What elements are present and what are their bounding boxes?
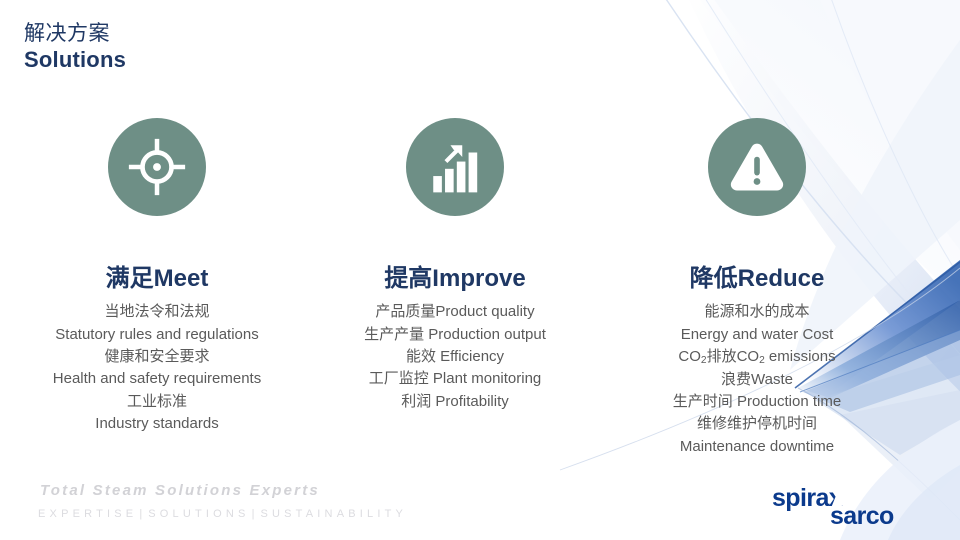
slide-title-block: 解决方案 Solutions <box>24 22 126 72</box>
list-item: Health and safety requirements <box>7 368 307 390</box>
icon-badge-improve <box>406 118 504 216</box>
solution-column-improve: 提高Improve 产品质量Product quality 生产产量 Produ… <box>305 118 605 413</box>
spirax-sarco-logo: spirax sarco <box>772 486 947 532</box>
logo-word-sarco: sarco <box>830 504 894 529</box>
solution-column-reduce: 降低Reduce 能源和水的成本 Energy and water Cost C… <box>607 118 907 458</box>
footer-pillar-expertise: EXPERTISE <box>38 508 137 520</box>
column-lines-meet: 当地法令和法规 Statutory rules and regulations … <box>7 301 307 435</box>
footer-pillar-sustainability: SUSTAINABILITY <box>260 508 407 520</box>
list-item: Energy and water Cost <box>607 324 907 346</box>
list-item: 工厂监控 Plant monitoring <box>305 368 605 390</box>
list-item: Statutory rules and regulations <box>7 324 307 346</box>
page-title-en: Solutions <box>24 48 126 73</box>
solution-column-meet: 满足Meet 当地法令和法规 Statutory rules and regul… <box>7 118 307 435</box>
list-item: Maintenance downtime <box>607 436 907 458</box>
list-item: 产品质量Product quality <box>305 301 605 323</box>
column-heading-meet: 满足Meet <box>7 266 307 292</box>
list-item: 生产时间 Production time <box>607 391 907 413</box>
footer-separator: | <box>139 508 142 520</box>
target-crosshair-icon <box>127 137 187 197</box>
column-lines-improve: 产品质量Product quality 生产产量 Production outp… <box>305 301 605 413</box>
column-lines-reduce: 能源和水的成本 Energy and water Cost CO2排放CO2 e… <box>607 301 907 457</box>
list-item: 利润 Profitability <box>305 391 605 413</box>
column-heading-improve: 提高Improve <box>305 266 605 292</box>
list-item: 工业标准 <box>7 391 307 413</box>
icon-badge-meet <box>108 118 206 216</box>
slide-canvas: 解决方案 Solutions 满足Meet 当地法令和法规 Statutory … <box>0 0 960 540</box>
list-item: 浪费Waste <box>607 369 907 391</box>
list-item: 生产产量 Production output <box>305 324 605 346</box>
column-heading-reduce: 降低Reduce <box>607 266 907 292</box>
list-item: 能效 Efficiency <box>305 346 605 368</box>
list-item: 当地法令和法规 <box>7 301 307 323</box>
bar-chart-growth-icon <box>426 138 484 196</box>
list-item: Industry standards <box>7 413 307 435</box>
list-item: 能源和水的成本 <box>607 301 907 323</box>
footer-pillars: EXPERTISE | SOLUTIONS | SUSTAINABILITY <box>38 508 407 520</box>
footer-tagline: Total Steam Solutions Experts <box>40 482 320 499</box>
list-item: 维修维护停机时间 <box>607 413 907 435</box>
footer-pillar-solutions: SOLUTIONS <box>148 508 249 520</box>
list-item-co2: CO2排放CO2 emissions <box>607 346 907 368</box>
page-title-cn: 解决方案 <box>24 22 126 46</box>
footer-separator: | <box>252 508 255 520</box>
list-item: 健康和安全要求 <box>7 346 307 368</box>
warning-triangle-icon <box>727 137 787 197</box>
icon-badge-reduce <box>708 118 806 216</box>
